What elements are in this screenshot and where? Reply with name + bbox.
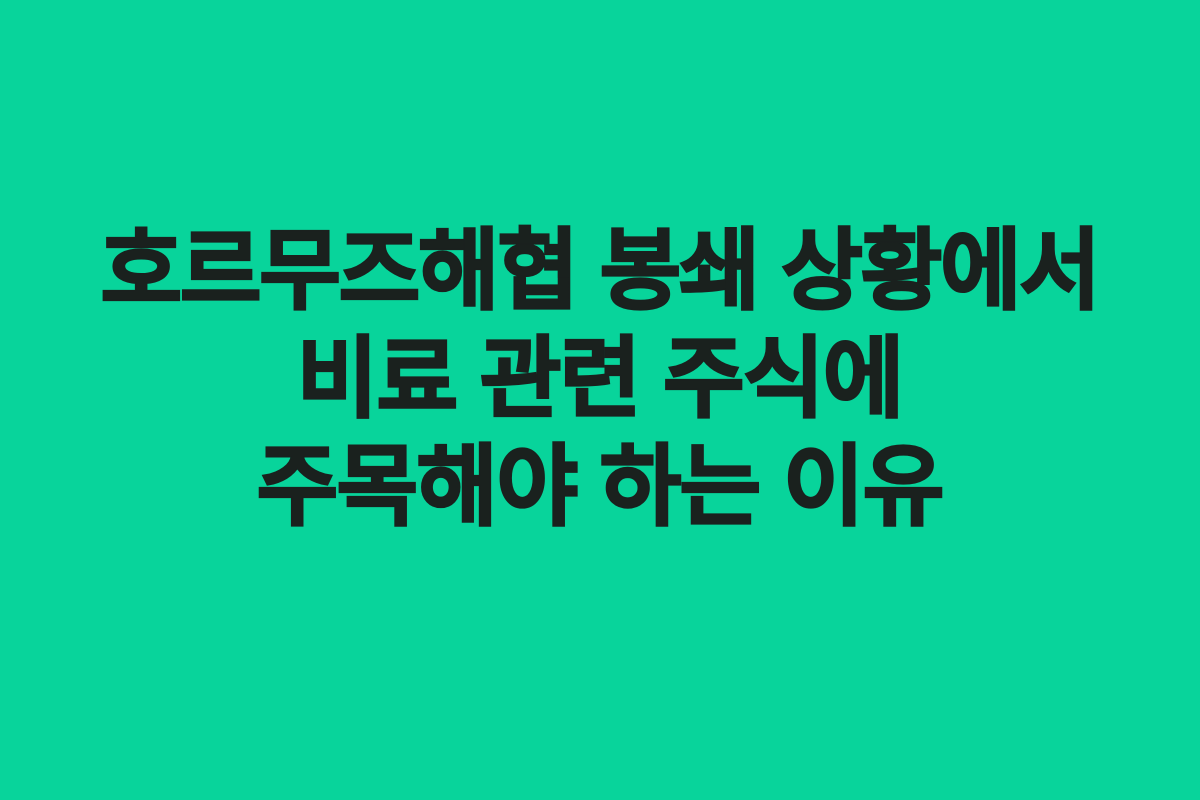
headline-card: 호르무즈해협 봉쇄 상황에서 비료 관련 주식에 주목해야 하는 이유 [0,0,1200,800]
headline-line-3: 주목해야 하는 이유 [35,433,1165,541]
headline-text-block: 호르무즈해협 봉쇄 상황에서 비료 관련 주식에 주목해야 하는 이유 [35,217,1165,541]
headline-line-1: 호르무즈해협 봉쇄 상황에서 [35,217,1165,325]
headline-line-2: 비료 관련 주식에 [35,325,1165,433]
